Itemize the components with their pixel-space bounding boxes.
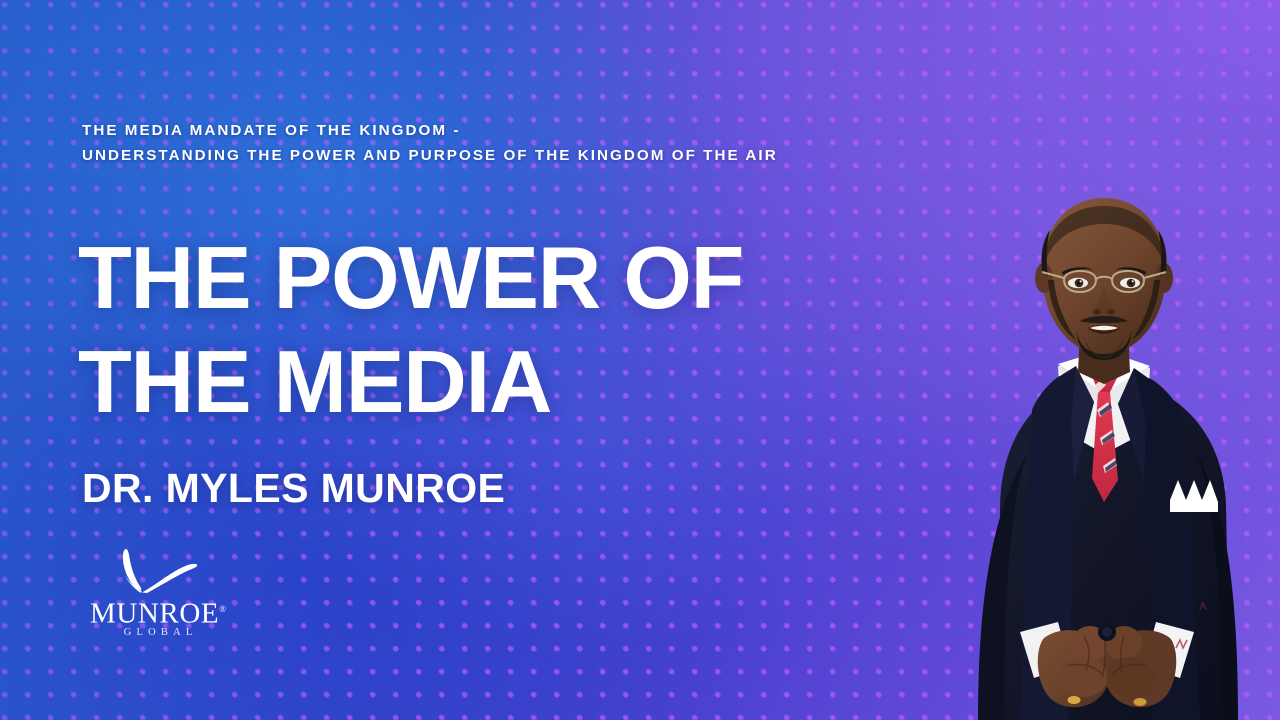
speaker-portrait bbox=[908, 180, 1280, 720]
text-content: THE MEDIA MANDATE OF THE KINGDOM - UNDER… bbox=[82, 0, 982, 720]
pocket-square bbox=[1170, 480, 1218, 512]
page-title: THE POWER OF THE MEDIA bbox=[78, 226, 978, 434]
speaker-name: DR. MYLES MUNROE bbox=[82, 465, 505, 512]
title-card: THE MEDIA MANDATE OF THE KINGDOM - UNDER… bbox=[0, 0, 1280, 720]
series-subtitle: THE MEDIA MANDATE OF THE KINGDOM - UNDER… bbox=[82, 118, 982, 168]
